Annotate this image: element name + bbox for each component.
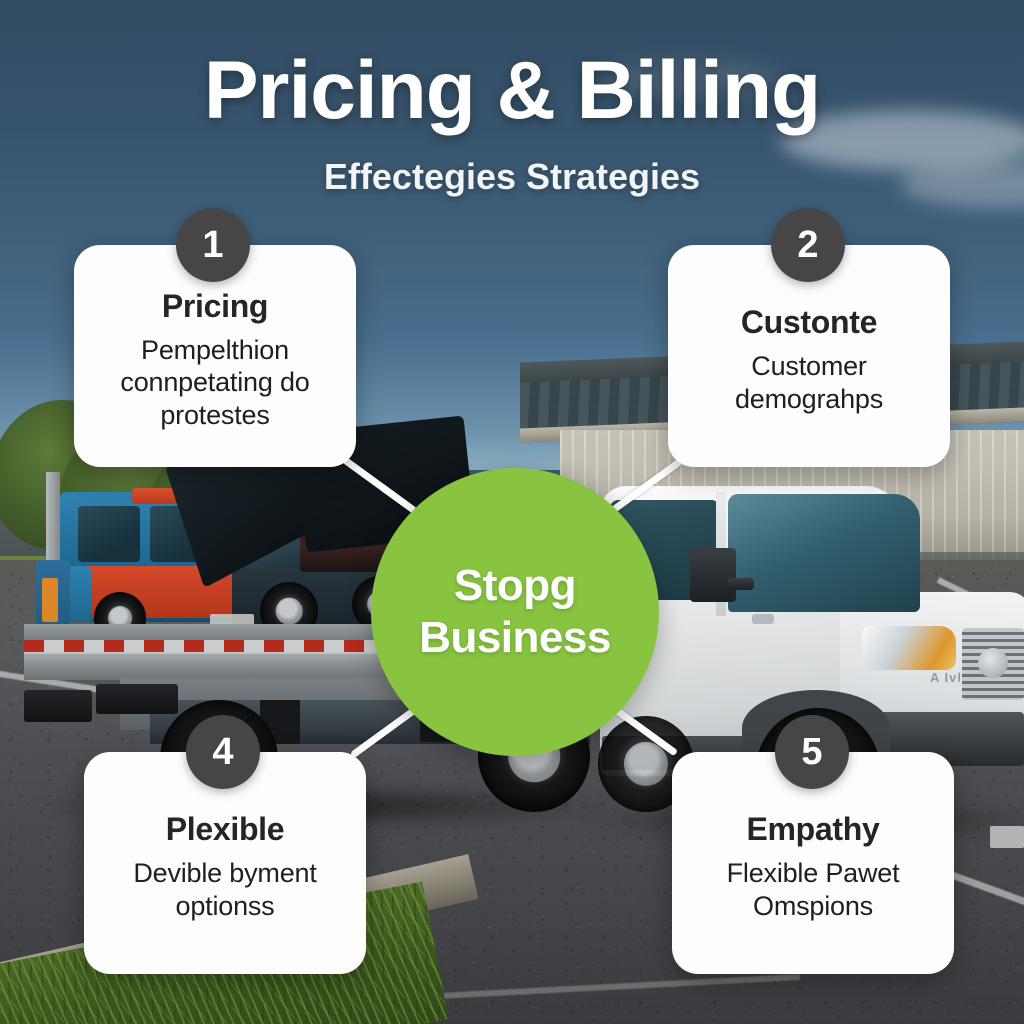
page-title: Pricing & Billing — [0, 48, 1024, 135]
strategy-card-5-number-badge: 5 — [775, 715, 849, 789]
strategy-card-5-title: Empathy — [746, 812, 879, 847]
strategy-card-4-description: Devible byment optionss — [102, 857, 348, 922]
page-subtitle: Effectegies Strategies — [0, 156, 1024, 198]
strategy-card-2-title: Custonte — [741, 305, 877, 340]
strategy-card-4-title: Plexible — [166, 812, 285, 847]
strategy-card-2-number-badge: 2 — [771, 208, 845, 282]
center-hub[interactable]: Stopg Business — [371, 468, 659, 756]
hub-line-1: Stopg — [454, 560, 576, 612]
strategy-card-2-description: Customer demograhps — [686, 350, 932, 415]
strategy-card-5-description: Flexible Pawet Omspions — [690, 857, 936, 922]
strategy-card-1-description: Pempelthion connpetating do protestes — [92, 334, 338, 431]
connector-line-card1 — [342, 457, 417, 514]
infographic-overlay: Pricing & Billing Effectegies Strategies… — [0, 0, 1024, 1024]
hub-line-2: Business — [419, 612, 611, 664]
strategy-card-1-title: Pricing — [162, 289, 268, 324]
strategy-card-1-number-badge: 1 — [176, 208, 250, 282]
infographic-canvas: A Ivl Pricing & Billing Effectegies Stra… — [0, 0, 1024, 1024]
strategy-card-4-number-badge: 4 — [186, 715, 260, 789]
connector-line-card2 — [608, 459, 682, 515]
